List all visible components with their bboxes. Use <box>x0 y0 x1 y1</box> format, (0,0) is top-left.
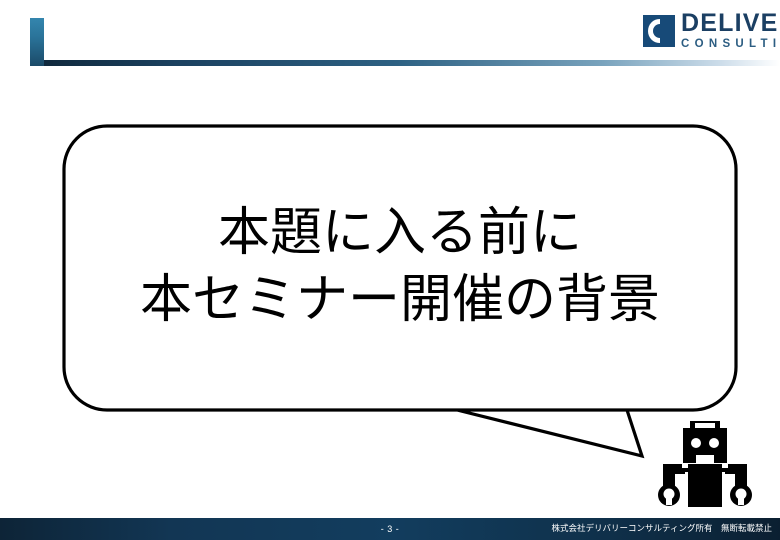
speech-bubble-shape <box>62 124 742 464</box>
logo-primary-text: DELIVERY <box>681 11 780 36</box>
footer-bar: - 3 - 株式会社デリバリーコンサルティング所有 無断転載禁止 <box>0 518 780 540</box>
logo-secondary-text: CONSULTING <box>681 39 780 51</box>
robot-illustration <box>655 419 755 509</box>
header-accent-bar <box>30 18 44 66</box>
logo-mark-icon <box>643 15 675 47</box>
company-logo: DELIVERY CONSULTING <box>643 11 780 51</box>
copyright-notice: 株式会社デリバリーコンサルティング所有 無断転載禁止 <box>552 518 773 540</box>
header-divider-rule <box>44 60 780 66</box>
slide-canvas: DELIVERY CONSULTING 本題に入る前に 本セミナー開催の背景 <box>0 0 780 540</box>
logo-bar-shape <box>660 15 675 47</box>
robot-icon <box>655 419 755 509</box>
logo-wordmark: DELIVERY CONSULTING <box>681 11 780 51</box>
speech-bubble: 本題に入る前に 本セミナー開催の背景 <box>62 124 742 464</box>
